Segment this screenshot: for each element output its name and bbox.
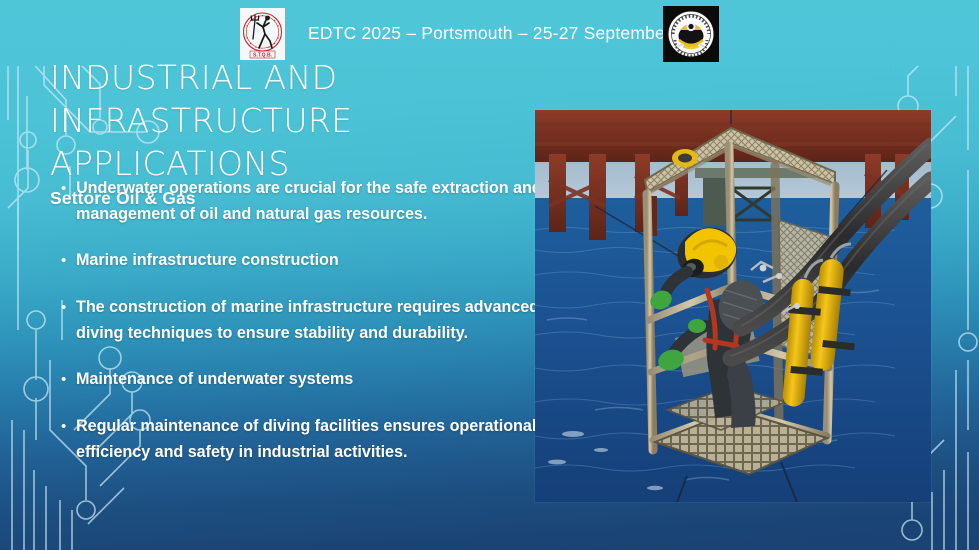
list-item: • Regular maintenance of diving faciliti… [58, 414, 550, 465]
bullet-list: • Underwater operations are crucial for … [58, 176, 550, 486]
presentation-slide: EDTC 2025 – Portsmouth – 25-27 September [0, 0, 979, 550]
stqb-logo: S.T.Q.B. [240, 8, 285, 60]
bullet-marker-icon: • [58, 295, 76, 321]
page-title-line-2: INFRASTRUCTURE APPLICATIONS [50, 99, 570, 185]
list-item: • The construction of marine infrastruct… [58, 295, 550, 346]
slide-photo [535, 110, 931, 502]
list-item: • Maintenance of underwater systems [58, 367, 550, 393]
page-title: INDUSTRIAL AND INFRASTRUCTURE APPLICATIO… [50, 56, 570, 185]
list-item-text: Underwater operations are crucial for th… [76, 176, 550, 227]
page-title-line-1: INDUSTRIAL AND [50, 56, 570, 99]
diving-association-logo [663, 6, 719, 62]
conference-title: EDTC 2025 – Portsmouth – 25-27 September [308, 23, 671, 44]
list-item-text: Maintenance of underwater systems [76, 367, 353, 393]
list-item-text: Marine infrastructure construction [76, 248, 339, 274]
list-item: • Underwater operations are crucial for … [58, 176, 550, 227]
bullet-marker-icon: • [58, 176, 76, 202]
list-item-text: The construction of marine infrastructur… [76, 295, 550, 346]
bullet-marker-icon: • [58, 248, 76, 274]
bullet-marker-icon: • [58, 367, 76, 393]
bullet-marker-icon: • [58, 414, 76, 440]
list-item: • Marine infrastructure construction [58, 248, 550, 274]
list-item-text: Regular maintenance of diving facilities… [76, 414, 550, 465]
